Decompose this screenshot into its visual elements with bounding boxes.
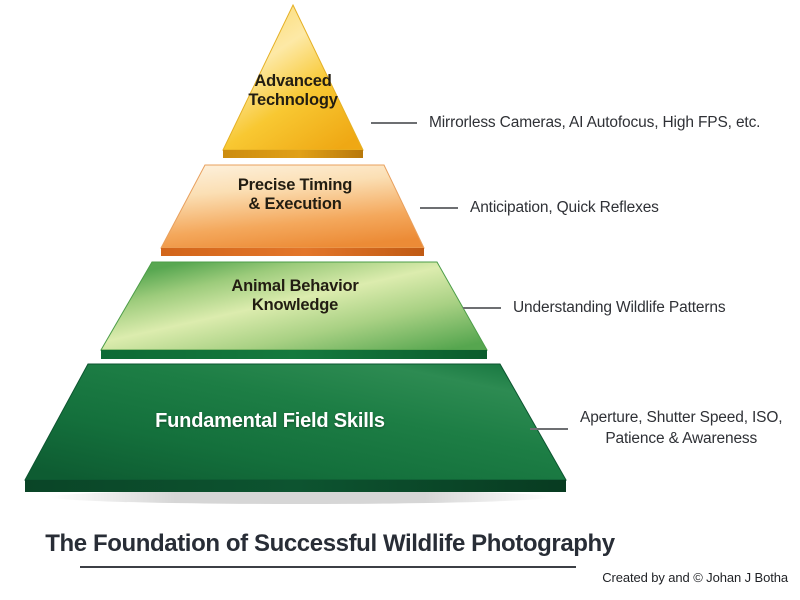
leader-line-icon: [530, 428, 568, 430]
title-underline-divider: [80, 566, 576, 568]
second-tier-edge: [161, 248, 424, 256]
base-shadow: [50, 490, 550, 504]
callout-fundamental-field-skills: Aperture, Shutter Speed, ISO, Patience &…: [530, 408, 782, 450]
pyramid-level-apex[interactable]: [223, 5, 363, 158]
base-tier-edge: [25, 480, 566, 492]
credit-line: Created by and © Johan J Botha: [602, 570, 788, 585]
leader-line-icon: [371, 122, 417, 124]
pyramid-level-base[interactable]: [25, 364, 566, 504]
apex-tier-edge: [223, 150, 363, 158]
pyramid-level-second[interactable]: [161, 165, 424, 256]
second-tier-face: [161, 165, 424, 248]
base-tier-face: [25, 364, 566, 480]
diagram-title: The Foundation of Successful Wildlife Ph…: [0, 530, 660, 558]
callout-text-animal-behavior: Understanding Wildlife Patterns: [501, 298, 725, 319]
callout-precise-timing: Anticipation, Quick Reflexes: [420, 198, 659, 219]
third-tier-face: [101, 262, 487, 350]
apex-tier-face: [223, 5, 363, 150]
leader-line-icon: [420, 207, 458, 209]
pyramid-diagram: Advanced Technology Precise Timing & Exe…: [0, 0, 800, 600]
callout-text-precise-timing: Anticipation, Quick Reflexes: [458, 198, 659, 219]
leader-line-icon: [463, 307, 501, 309]
callout-advanced-technology: Mirrorless Cameras, AI Autofocus, High F…: [371, 113, 760, 134]
pyramid-level-third[interactable]: [101, 262, 487, 359]
callout-text-fundamental-field-skills: Aperture, Shutter Speed, ISO, Patience &…: [568, 408, 782, 450]
callout-text-advanced-technology: Mirrorless Cameras, AI Autofocus, High F…: [417, 113, 760, 134]
callout-animal-behavior: Understanding Wildlife Patterns: [463, 298, 725, 319]
third-tier-edge: [101, 350, 487, 359]
